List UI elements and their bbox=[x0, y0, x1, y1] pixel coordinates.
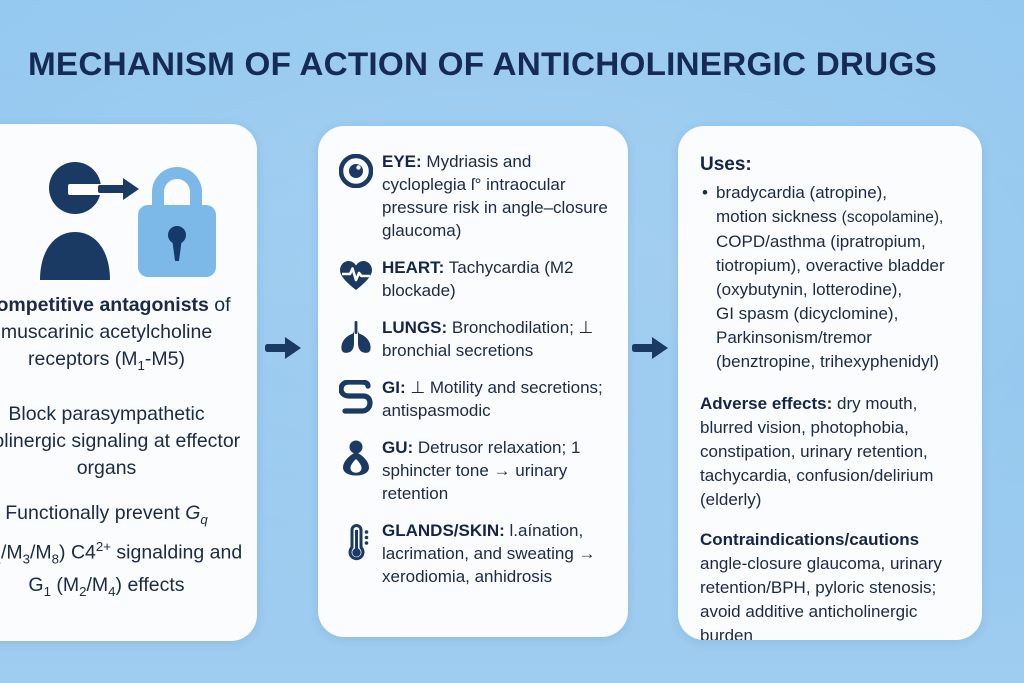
mechanism-lead-label: Competitive antagonists bbox=[0, 294, 209, 316]
fp-slash2: /M bbox=[30, 541, 52, 563]
flow-arrow-right-1 bbox=[263, 333, 303, 363]
gq-label: G bbox=[185, 502, 200, 524]
ligand-bar-icon bbox=[68, 184, 102, 195]
lock-icon bbox=[138, 167, 216, 277]
use-line-1: bradycardia (atropine), bbox=[716, 183, 887, 202]
g1-subscript: 1 bbox=[44, 584, 51, 599]
thermometer-icon bbox=[330, 519, 382, 561]
effect-copy-gi: GI: ⊥ Motility and secretions; antispasm… bbox=[382, 376, 622, 422]
fp-pre: Functionally prevent bbox=[5, 502, 185, 524]
contraindications-block: Contraindications/cautionsangle-closure … bbox=[700, 528, 962, 640]
adverse-effects-label: Adverse effects: bbox=[700, 394, 832, 413]
panel-organ-effects: EYE: Mydriasis and cycloplegia ſ° intrao… bbox=[318, 126, 628, 637]
m3-sub: 3 bbox=[23, 551, 30, 566]
list-item: GU: Detrusor relaxation; 1 sphincter ton… bbox=[330, 436, 622, 505]
effect-copy-glands-skin: GLANDS/SKIN: l.aínation, lacrimation, an… bbox=[382, 519, 622, 588]
organ-effects-list: EYE: Mydriasis and cycloplegia ſ° intrao… bbox=[330, 150, 622, 602]
effect-label-gi: GI: bbox=[382, 378, 406, 397]
list-item: EYE: Mydriasis and cycloplegia ſ° intrao… bbox=[330, 150, 622, 242]
fp-end: ) effects bbox=[116, 574, 185, 596]
effect-text-gi: ⊥ Motility and secretions; antispasmodic bbox=[382, 378, 603, 420]
use-line-7: Parkinsonism/tremor bbox=[716, 328, 872, 347]
transfer-arrow-icon bbox=[98, 178, 139, 200]
intestine-icon bbox=[330, 376, 382, 414]
contraindications-text: angle-closure glaucoma, urinary retentio… bbox=[700, 554, 942, 640]
effect-label-eye: EYE: bbox=[382, 152, 422, 171]
person-icon bbox=[40, 162, 110, 280]
uses-list: bradycardia (atropine), motion sickness … bbox=[700, 181, 962, 374]
effect-label-lungs: LUNGS: bbox=[382, 318, 447, 337]
list-item: GI: ⊥ Motility and secretions; antispasm… bbox=[330, 376, 622, 422]
mechanism-text-group: Competitive antagonists of muscarinic ac… bbox=[0, 292, 257, 623]
use-line-6: GI spasm (dicyclomine), bbox=[716, 304, 898, 323]
mechanism-rest-text-2: -M5) bbox=[145, 348, 185, 370]
m2-sub: 2 bbox=[79, 584, 86, 599]
page-title: MECHANISM OF ACTION OF ANTICHOLINERGIC D… bbox=[28, 45, 1016, 83]
effect-copy-heart: HEART: Tachycardia (M2 blockade) bbox=[382, 256, 622, 302]
bladder-icon bbox=[330, 436, 382, 476]
lungs-icon bbox=[330, 316, 382, 354]
eye-icon bbox=[330, 150, 382, 188]
list-item: bradycardia (atropine), motion sickness … bbox=[700, 181, 962, 374]
use-line-4: tiotropium), overactive bladder bbox=[716, 256, 945, 275]
list-item: LUNGS: Bronchodilation; ⊥ bronchial secr… bbox=[330, 316, 622, 362]
contraindications-label: Contraindications/cautions bbox=[700, 530, 919, 549]
use-line-2-drug: (scopolamine), bbox=[842, 209, 944, 226]
effect-copy-gu: GU: Detrusor relaxation; 1 sphincter ton… bbox=[382, 436, 622, 505]
fp-m24-open: (M bbox=[51, 574, 79, 596]
use-line-8: (benztropine, trihexyphenidyl) bbox=[716, 352, 939, 371]
panel-mechanism: Competitive antagonists of muscarinic ac… bbox=[0, 124, 257, 641]
uses-heading: Uses: bbox=[700, 152, 962, 177]
effect-label-gu: GU: bbox=[382, 438, 413, 457]
use-line-5: (oxybutynin, lotterodine), bbox=[716, 280, 902, 299]
use-line-3: COPD/asthma (ipratropium, bbox=[716, 232, 926, 251]
mechanism-block-block-parasympathetic: Block parasympathetic cholinergic signal… bbox=[0, 401, 249, 482]
gq-subscript: q bbox=[200, 512, 207, 527]
effect-label-heart: HEART: bbox=[382, 258, 444, 277]
mechanism-block-functionally-prevent: Functionally prevent Gq (M1/M3/M8) C42+ … bbox=[0, 500, 249, 605]
mechanism-block-competitive-antagonists: Competitive antagonists of muscarinic ac… bbox=[0, 292, 249, 379]
adverse-effects-block: Adverse effects: dry mouth, blurred visi… bbox=[700, 392, 962, 512]
use-line-2a: motion sickness bbox=[716, 207, 842, 226]
m4-sub: 4 bbox=[108, 584, 115, 599]
fp-slash3: /M bbox=[87, 574, 109, 596]
fp-slash1: /M bbox=[1, 541, 23, 563]
clinical-body: Uses: bradycardia (atropine), motion sic… bbox=[700, 152, 962, 640]
flow-arrow-right-2 bbox=[630, 333, 670, 363]
heart-icon bbox=[330, 256, 382, 292]
m8-sub: 8 bbox=[52, 551, 59, 566]
effect-copy-eye: EYE: Mydriasis and cycloplegia ſ° intrao… bbox=[382, 150, 622, 242]
calcium-charge-superscript: 2+ bbox=[96, 539, 111, 554]
panel-clinical: Uses: bradycardia (atropine), motion sic… bbox=[678, 126, 982, 640]
effect-copy-lungs: LUNGS: Bronchodilation; ⊥ bronchial secr… bbox=[382, 316, 622, 362]
m1-subscript: 1 bbox=[138, 358, 145, 373]
list-item: HEART: Tachycardia (M2 blockade) bbox=[330, 256, 622, 302]
list-item: GLANDS/SKIN: l.aínation, lacrimation, an… bbox=[330, 519, 622, 588]
effect-label-glands-skin: GLANDS/SKIN: bbox=[382, 521, 505, 540]
fp-calcium: ) C4 bbox=[59, 541, 96, 563]
receptor-blockade-graphic bbox=[20, 158, 240, 280]
